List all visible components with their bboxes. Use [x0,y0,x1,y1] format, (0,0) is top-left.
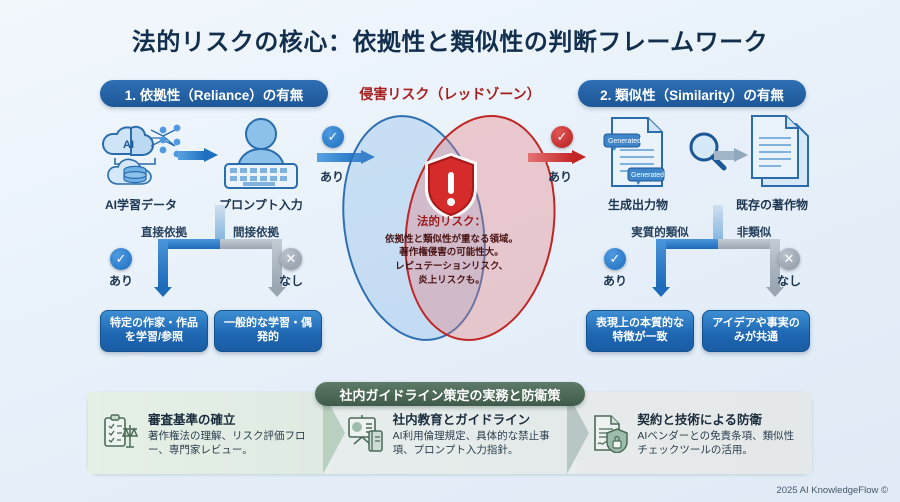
right-arrow-status: あり [540,168,580,185]
left-branch-1-check-icon: ✓ [110,248,132,270]
left-branch-1-status: あり [99,272,143,289]
svg-text:Generated: Generated [608,138,641,145]
right-result-box-1: 表現上の本質的な特徴が一致 [586,310,694,352]
right-arrow-check-icon: ✓ [551,126,573,148]
venn-risk-text: 法的リスク： 依拠性と類似性が重なる領域。 著作権侵害の可能性大。 レピュテーシ… [364,214,539,288]
clipboard-scales-icon [102,413,140,453]
red-right-arrow-icon [528,150,586,164]
venn-risk-line-2: 著作権侵害の可能性大。 [399,247,504,258]
left-branch-2-status: なし [269,272,313,289]
left-result-box-1: 特定の作家・作品を学習/参照 [100,310,208,352]
right-branch-2-status: なし [767,272,811,289]
svg-text:AI: AI [123,139,134,151]
right-branch-2-condition: 非類似 [722,224,786,240]
page-title: 法的リスクの核心：依拠性と類似性の判断フレームワーク [0,22,900,57]
section-pill-similarity: 2. 類似性（Similarity）の有無 [578,80,806,107]
bottom-card-3-body: AIベンダーとの免責条項、類似性チェックツールの活用。 [637,430,802,457]
bottom-card-1-heading: 審査基準の確立 [148,409,313,428]
left-inner-arrow-icon [178,148,218,162]
svg-text:Generated: Generated [631,172,664,179]
right-inner-arrow-icon [714,148,748,162]
left-branch-1-condition: 直接依拠 [130,224,198,240]
venn-risk-line-3: レピュテーションリスク、 [395,261,508,272]
section-pill-reliance: 1. 依拠性（Reliance）の有無 [100,80,328,107]
bottom-card-3[interactable]: 契約と技術による防衛 AIベンダーとの免責条項、類似性チェックツールの活用。 [577,392,812,474]
ai-brain-cloud-database-icon: AI [93,112,185,190]
red-warning-shield-icon [420,150,482,222]
bottom-card-2-body: AI利用倫理規定、具体的な禁止事項、プロンプト入力指針。 [393,430,558,457]
left-result-box-2: 一般的な学習・偶発的 [214,310,322,352]
venn-diagram: 法的リスク： 依拠性と類似性が重なる領域。 著作権侵害の可能性大。 レピュテーシ… [334,108,566,346]
venn-risk-line-4: 炎上リスクも。 [418,275,485,286]
bottom-card-1[interactable]: 審査基準の確立 著作権法の理解、リスク評価フロー、専門家レビュー。 [88,392,323,474]
venn-risk-heading: 法的リスク： [364,214,539,231]
bottom-card-3-heading: 契約と技術による防衛 [637,409,802,428]
existing-document-stack-icon [746,112,816,192]
right-branch-1-status: あり [593,272,637,289]
redzone-label: 侵害リスク（レッドゾーン） [340,84,560,104]
left-branch-2-cross-icon: ✕ [280,248,302,270]
document-lock-shield-icon [591,413,629,453]
right-branch-1-check-icon: ✓ [604,248,626,270]
person-keyboard-icon [215,112,307,190]
right-result-box-2: アイデアや事実のみが共通 [702,310,810,352]
right-branch-1-condition: 実質的類似 [622,224,698,240]
generated-document-icon: Generated Generated [598,112,676,192]
bottom-section-title: 社内ガイドライン策定の実務と防衛策 [315,382,585,406]
footer-copyright: 2025 AI KnowledgeFlow © [776,485,888,496]
left-branch-2-condition: 間接依拠 [222,224,290,240]
right-branch-2-cross-icon: ✕ [778,248,800,270]
venn-risk-line-1: 依拠性と類似性が重なる領域。 [385,234,518,245]
bottom-card-2-heading: 社内教育とガイドライン [393,409,558,428]
bottom-card-1-body: 著作権法の理解、リスク評価フロー、専門家レビュー。 [148,430,313,457]
presentation-book-icon [347,413,385,453]
